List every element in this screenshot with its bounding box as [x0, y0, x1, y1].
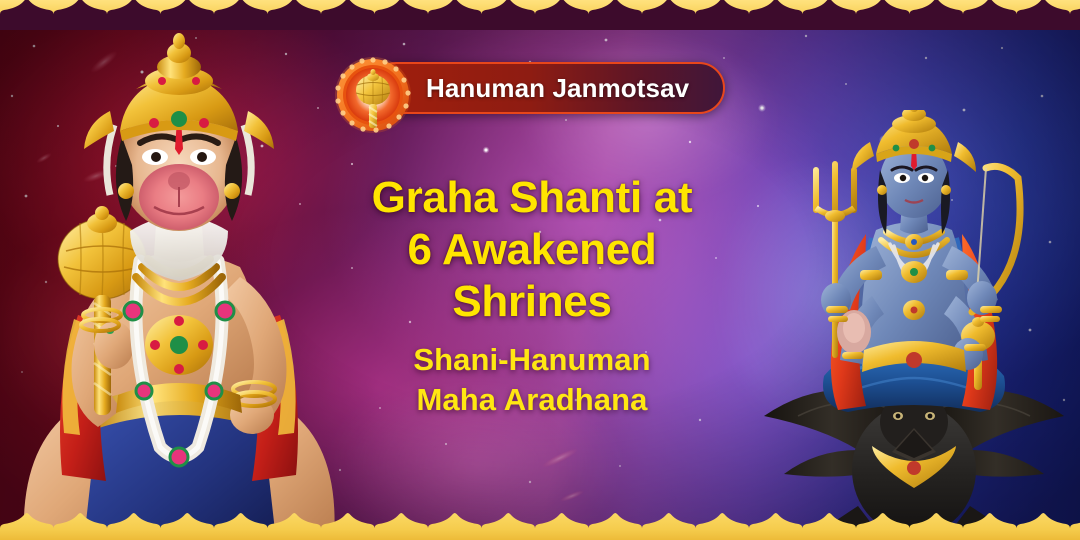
banner-text-block: Graha Shanti at 6 Awakened Shrines Shani…	[330, 172, 734, 420]
hanuman-deity-figure	[14, 15, 344, 540]
temple-arch-border-bottom	[0, 512, 1080, 540]
event-badge[interactable]: Hanuman Janmotsav	[334, 62, 725, 114]
headline-line-1: Graha Shanti at	[330, 172, 734, 224]
subheadline-line-2: Maha Aradhana	[330, 380, 734, 420]
headline: Graha Shanti at 6 Awakened Shrines	[330, 172, 734, 328]
event-badge-label: Hanuman Janmotsav	[426, 73, 689, 104]
subheadline-line-1: Shani-Hanuman	[330, 340, 734, 380]
headline-line-2: 6 Awakened	[330, 224, 734, 276]
golden-mace-gada-icon	[334, 56, 412, 134]
temple-arch-border-top	[0, 0, 1080, 30]
event-badge-pill[interactable]: Hanuman Janmotsav	[370, 62, 725, 114]
headline-line-3: Shrines	[330, 276, 734, 328]
promotional-banner: Hanuman Janmotsav Graha Shanti at 6 Awak…	[0, 0, 1080, 540]
subheadline: Shani-Hanuman Maha Aradhana	[330, 340, 734, 420]
shani-deity-figure	[754, 110, 1074, 540]
